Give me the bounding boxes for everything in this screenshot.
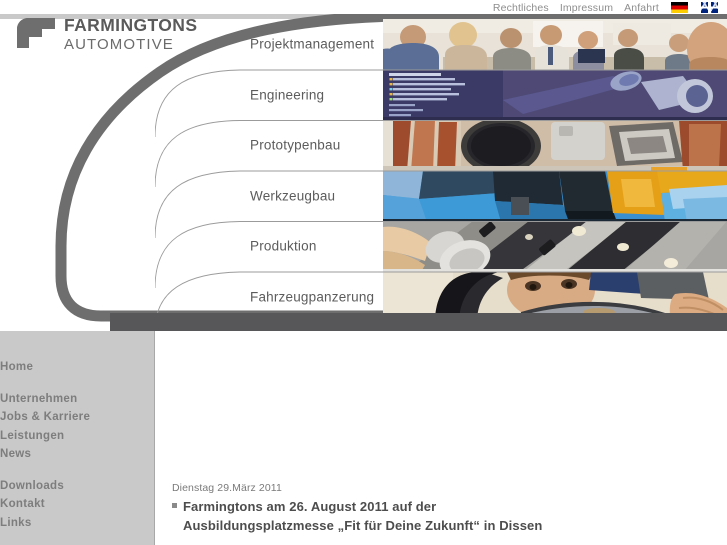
nav-label-produktion: Produktion [250,239,317,254]
nav-row-engineering[interactable]: Engineering [155,70,727,121]
topnav-impressum[interactable]: Impressum [560,2,613,14]
nav-label-fahrzeugpanzerung: Fahrzeugpanzerung [250,289,374,304]
logo-company-name: FARMINGTONS [64,17,197,35]
top-utility-bar: Rechtliches Impressum Anfahrt [0,0,727,14]
main-navigation-panel: Projektmanagement [155,19,727,331]
nav-label-projektmanagement: Projektmanagement [250,37,374,52]
sidebar-item-kontakt[interactable]: Kontakt [0,495,154,514]
nav-row-produktion[interactable]: Produktion [155,221,727,272]
topnav-anfahrt[interactable]: Anfahrt [624,2,659,14]
meeting-room-photo[interactable] [383,19,727,70]
nav-label-werkzeugbau: Werkzeugbau [250,188,335,203]
sidebar-divider [154,331,155,545]
sidebar-item-leistungen[interactable]: Leistungen [0,427,154,446]
logo-company-sub: AUTOMOTIVE [64,37,197,52]
blue-tooling-machine-photo[interactable] [383,171,727,222]
main-content: Dienstag 29.März 2011 Farmingtons am 26.… [172,482,572,535]
site-logo[interactable]: FARMINGTONS AUTOMOTIVE [17,16,197,52]
nav-label-engineering: Engineering [250,87,324,102]
cad-engineering-screen-photo[interactable] [383,70,727,121]
nav-label-prototypenbau: Prototypenbau [250,138,340,153]
news-headline[interactable]: Farmingtons am 26. August 2011 auf der A… [172,498,572,535]
flag-gb-icon[interactable] [700,1,719,14]
nav-row-prototypenbau[interactable]: Prototypenbau [155,120,727,171]
sidebar: Home Unternehmen Jobs & Karriere Leistun… [0,331,154,545]
f-logo-icon [17,18,55,48]
header-bottom-bar [110,313,727,331]
sidebar-item-links[interactable]: Links [0,514,154,533]
sidebar-item-unternehmen[interactable]: Unternehmen [0,390,154,409]
top-utility-links: Rechtliches Impressum Anfahrt [493,1,719,14]
flag-de-icon[interactable] [670,1,689,14]
hands-on-metal-press-photo[interactable] [383,221,727,272]
topnav-rechtliches[interactable]: Rechtliches [493,2,549,14]
sidebar-item-news[interactable]: News [0,445,154,464]
nav-row-werkzeugbau[interactable]: Werkzeugbau [155,171,727,222]
logo-wordmark: FARMINGTONS AUTOMOTIVE [64,16,197,52]
news-headline-text: Farmingtons am 26. August 2011 auf der A… [183,499,542,533]
bullet-square-icon [172,503,177,508]
car-interior-speaker-photo[interactable] [383,120,727,171]
sidebar-nav-list: Home Unternehmen Jobs & Karriere Leistun… [0,358,154,532]
sidebar-item-home[interactable]: Home [0,358,154,377]
nav-row-projektmanagement[interactable]: Projektmanagement [155,19,727,70]
sidebar-item-jobs-karriere[interactable]: Jobs & Karriere [0,408,154,427]
news-date: Dienstag 29.März 2011 [172,482,572,494]
sidebar-item-downloads[interactable]: Downloads [0,477,154,496]
